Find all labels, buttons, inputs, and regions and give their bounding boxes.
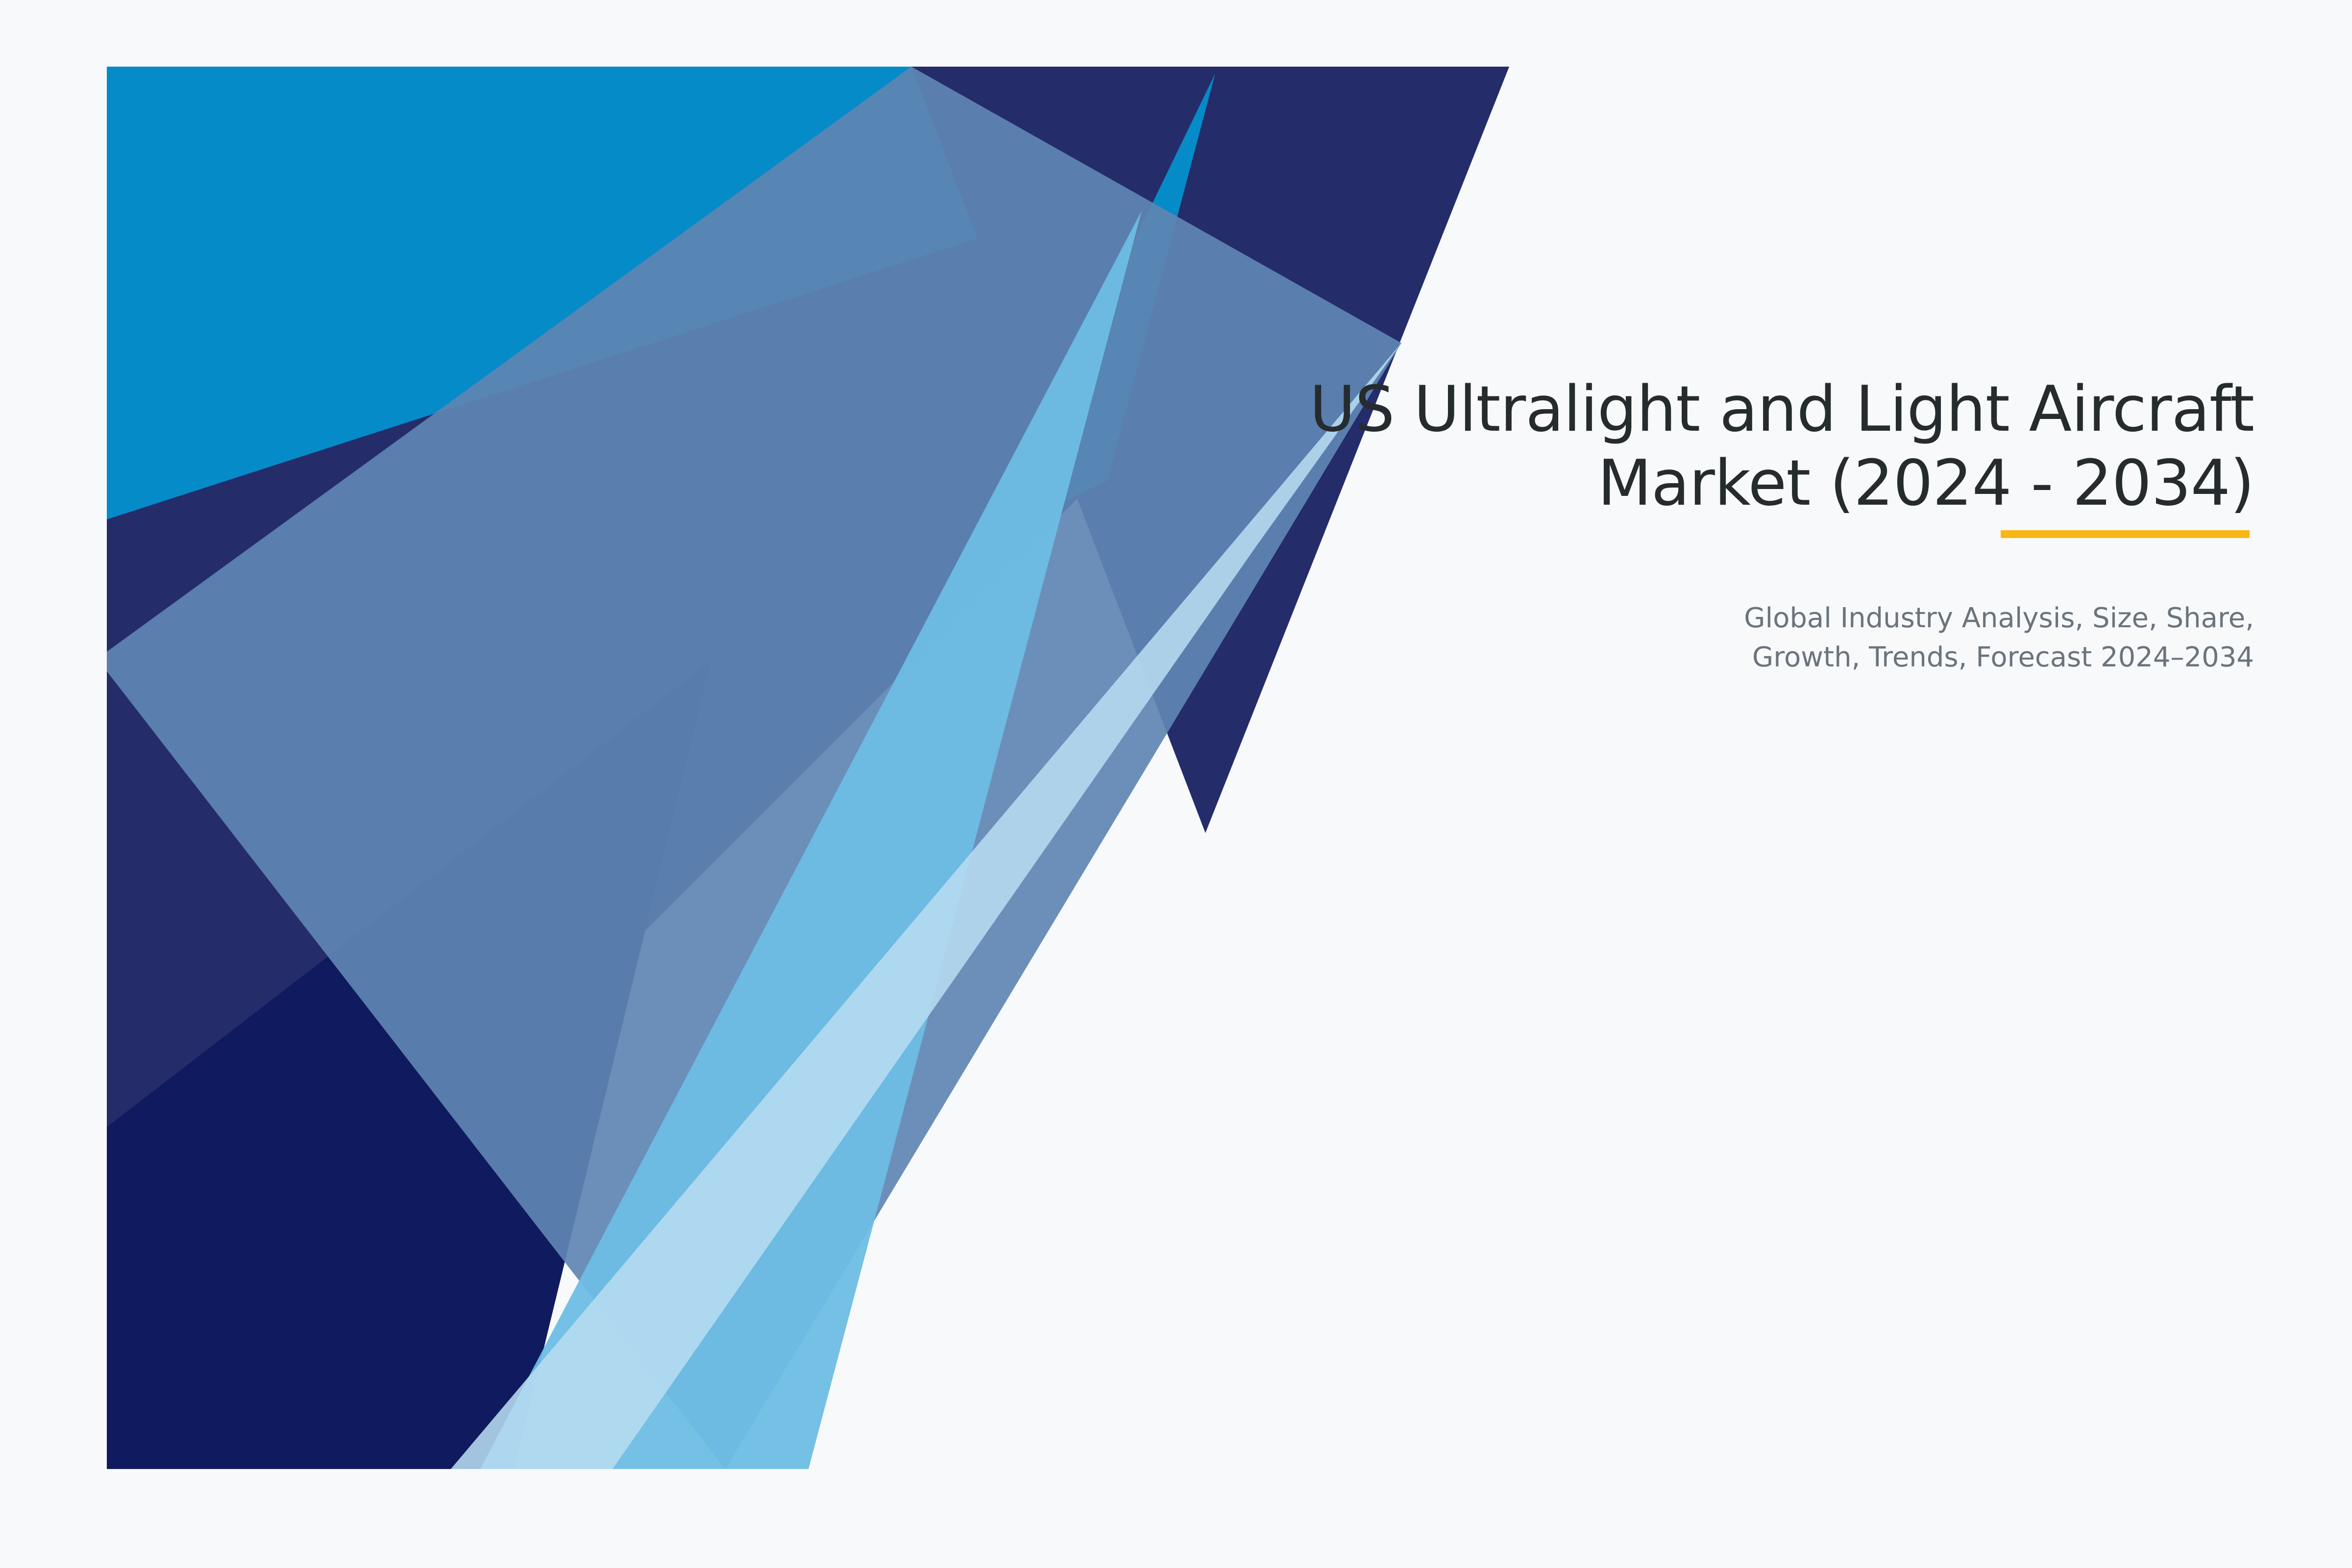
page-subtitle: Global Industry Analysis, Size, Share, G… [1068,520,2254,677]
cover-artwork [0,0,2352,1568]
title-accent-bar [2001,530,2250,538]
report-cover-page: US Ultralight and Light Aircraft Market … [0,0,2352,1568]
title-block: US Ultralight and Light Aircraft Market … [1068,372,2254,677]
page-title: US Ultralight and Light Aircraft Market … [1068,372,2254,520]
